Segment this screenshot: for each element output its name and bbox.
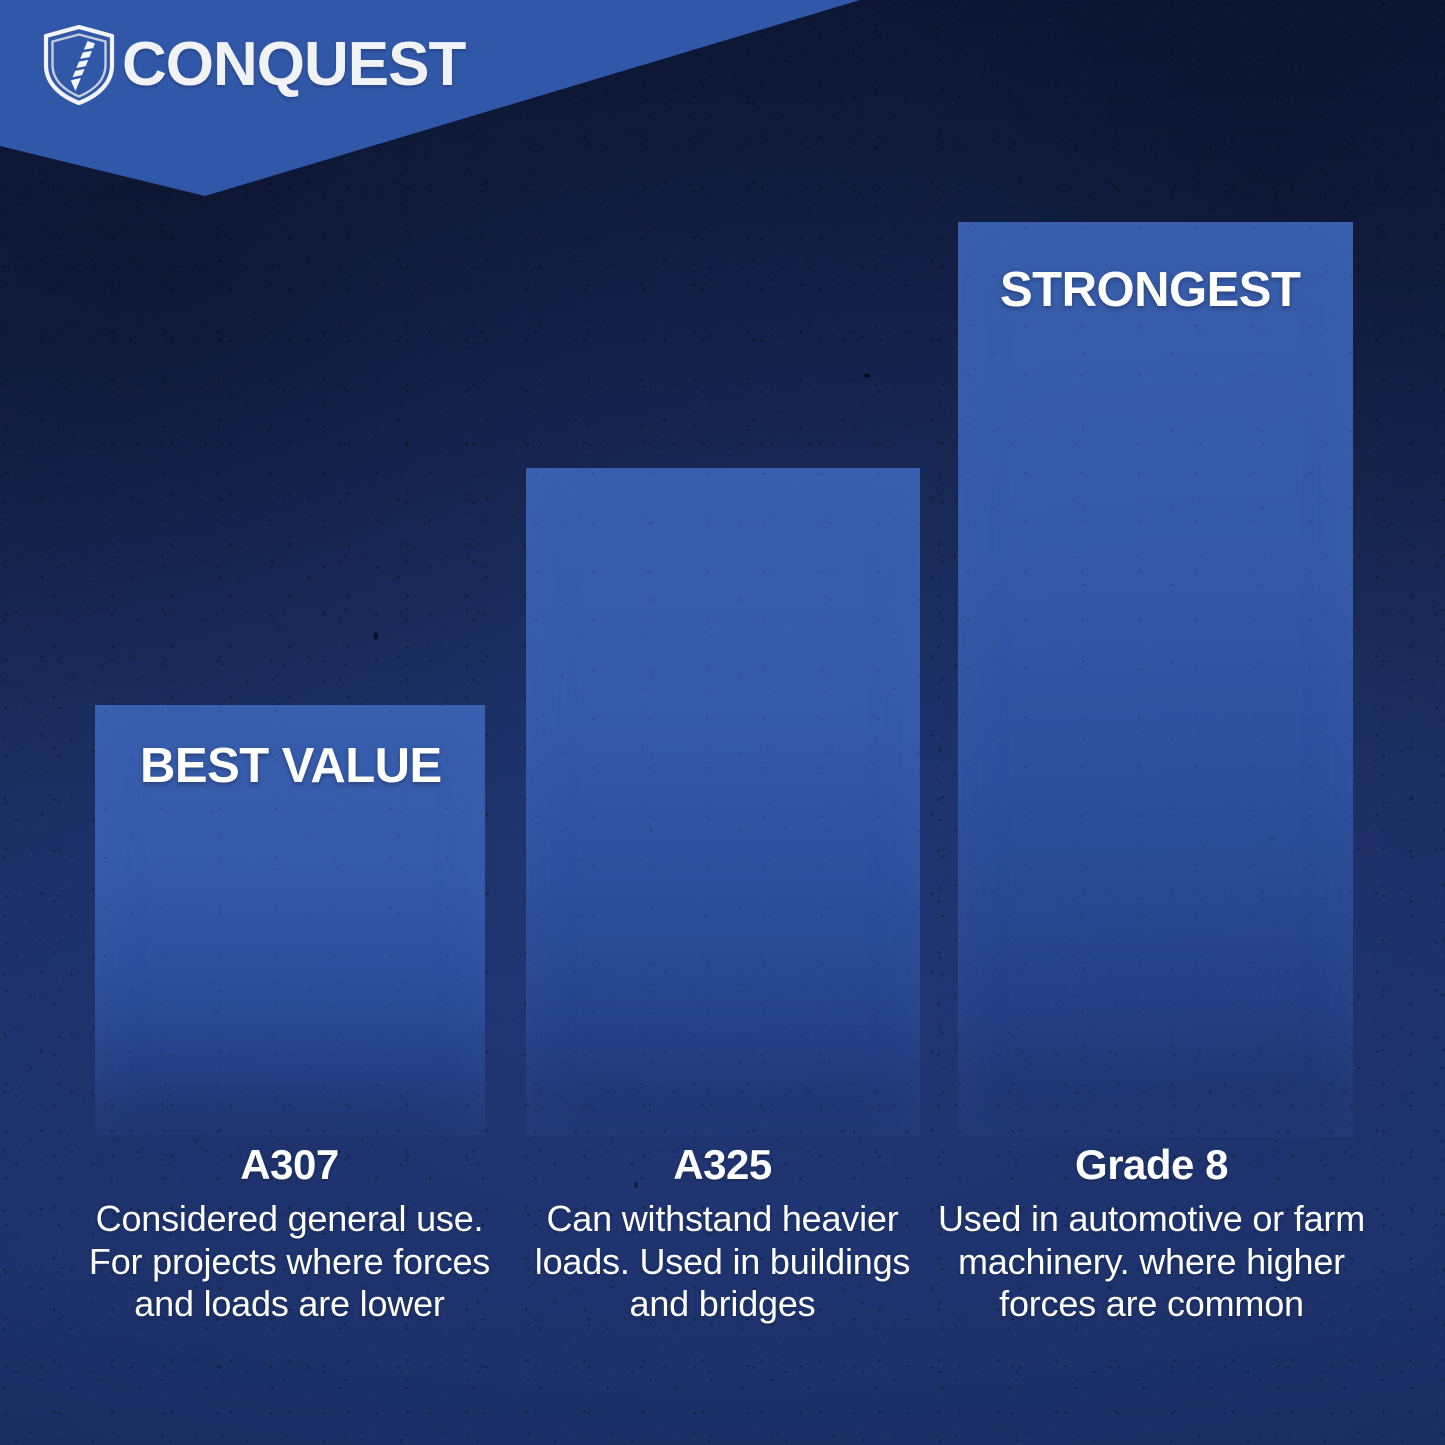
- caption-title-grade-8: Grade 8: [931, 1142, 1372, 1188]
- caption-body-a325: Can withstand heavier loads. Used in bui…: [502, 1198, 943, 1325]
- infographic-canvas: CONQUEST BEST VALUE STRONGEST A307 Consi…: [0, 0, 1445, 1445]
- caption-body-grade-8: Used in automotive or farm machinery. wh…: [931, 1198, 1372, 1325]
- caption-title-a307: A307: [69, 1142, 510, 1188]
- badge-strongest: STRONGEST: [1000, 262, 1300, 318]
- caption-title-a325: A325: [502, 1142, 943, 1188]
- caption-column-grade-8: Grade 8 Used in automotive or farm machi…: [931, 1142, 1372, 1326]
- badge-best-value: BEST VALUE: [140, 738, 442, 794]
- bar-grade-8: [958, 222, 1353, 1137]
- caption-column-a325: A325 Can withstand heavier loads. Used i…: [502, 1142, 943, 1326]
- caption-body-a307: Considered general use. For projects whe…: [69, 1198, 510, 1325]
- caption-row: A307 Considered general use. For project…: [0, 1142, 1445, 1326]
- bar-a325: [526, 468, 920, 1136]
- caption-column-a307: A307 Considered general use. For project…: [69, 1142, 510, 1326]
